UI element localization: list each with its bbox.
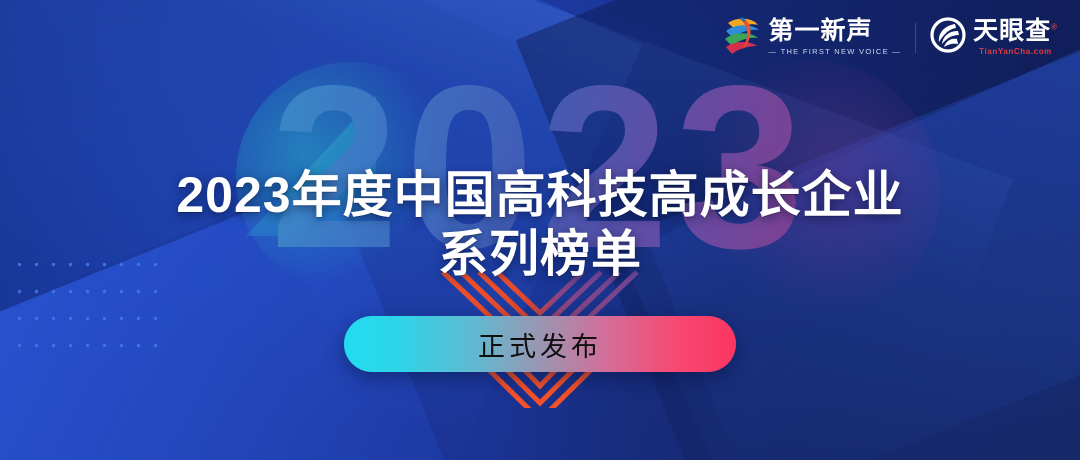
swirl-ribbon-icon <box>722 14 762 61</box>
promo-banner: 2023 <box>0 0 1080 460</box>
logo-divider <box>915 23 916 53</box>
logo-bar: 第一新声 — THE FIRST NEW VOICE — 天眼查® TianYa… <box>722 14 1058 61</box>
official-release-button[interactable]: 正式发布 <box>344 316 736 372</box>
logo-diyixinsheng[interactable]: 第一新声 — THE FIRST NEW VOICE — <box>722 14 902 61</box>
logo-tianyancha-name: 天眼查® <box>973 19 1058 44</box>
page-title-line-1: 2023年度中国高科技高成长企业 <box>0 166 1080 225</box>
logo-diyixinsheng-text: 第一新声 — THE FIRST NEW VOICE — <box>769 19 902 56</box>
trademark-icon: ® <box>1051 23 1058 32</box>
logo-tianyancha-text: 天眼查® TianYanCha.com <box>973 19 1058 56</box>
logo-tianyancha-name-cn: 天眼查 <box>973 17 1051 45</box>
logo-tianyancha-domain: TianYanCha.com <box>973 48 1058 56</box>
logo-diyixinsheng-name: 第一新声 <box>769 19 902 44</box>
logo-diyixinsheng-tagline: — THE FIRST NEW VOICE — <box>769 48 902 56</box>
page-title: 2023年度中国高科技高成长企业 系列榜单 <box>0 166 1080 284</box>
page-title-line-2: 系列榜单 <box>0 225 1080 284</box>
logo-tianyancha[interactable]: 天眼查® TianYanCha.com <box>930 17 1058 58</box>
aperture-eye-icon <box>930 17 966 58</box>
